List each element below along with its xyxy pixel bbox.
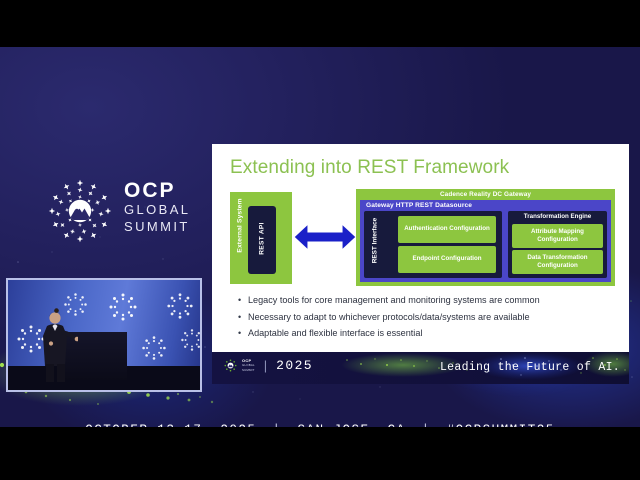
backdrop-starburst-icon bbox=[180, 328, 202, 352]
rest-api-block: REST API bbox=[248, 206, 276, 274]
list-item: • Necessary to adapt to whichever protoc… bbox=[238, 311, 618, 324]
letterbox-bar-bottom bbox=[0, 427, 640, 480]
backdrop-starburst-icon bbox=[166, 292, 194, 320]
data-transformation-configuration-box: Data Transformation Configuration bbox=[512, 250, 603, 274]
list-item: • Adaptable and flexible interface is es… bbox=[238, 327, 618, 340]
backdrop-starburst-icon bbox=[141, 335, 167, 361]
video-player-frame: OCP GLOBAL SUMMIT bbox=[0, 0, 640, 480]
bullet-text: Necessary to adapt to whichever protocol… bbox=[248, 311, 530, 324]
slide-footer-tagline: Leading the Future of AI. bbox=[440, 361, 620, 374]
rest-interface-label: REST Interface bbox=[372, 213, 379, 269]
rest-api-label: REST API bbox=[259, 209, 266, 269]
authentication-configuration-box: Authentication Configuration bbox=[398, 216, 496, 243]
bullet-dot-icon: • bbox=[238, 294, 248, 307]
ocp-logo-line-1: OCP bbox=[124, 181, 190, 201]
bullet-dot-icon: • bbox=[238, 311, 248, 324]
backdrop-starburst-icon bbox=[108, 292, 138, 322]
footer-year: 2025 bbox=[276, 358, 313, 373]
gateway-label: Cadence Reality DC Gateway bbox=[356, 191, 615, 198]
ocp-global-summit-logo: OCP GLOBAL SUMMIT bbox=[44, 175, 194, 249]
endpoint-configuration-box: Endpoint Configuration bbox=[398, 246, 496, 273]
rest-interface-block: REST Interface Authentication Configurat… bbox=[364, 211, 502, 278]
gateway-http-rest-datasource-block: Gateway HTTP REST Datasource REST Interf… bbox=[360, 200, 611, 282]
ocp-logo-wordmark: OCP GLOBAL SUMMIT bbox=[124, 181, 190, 235]
attribute-mapping-configuration-box: Attribute Mapping Configuration bbox=[512, 224, 603, 248]
transformation-engine-block: Transformation Engine Attribute Mapping … bbox=[508, 211, 607, 278]
presentation-slide: Extending into REST Framework External S… bbox=[212, 144, 629, 384]
presentation-stage-background: OCP GLOBAL SUMMIT bbox=[0, 47, 640, 427]
slide-footer-logo-group: OCP GLOBAL SUMMIT | 2025 bbox=[224, 358, 313, 373]
transformation-engine-label: Transformation Engine bbox=[508, 213, 607, 220]
bidirectional-arrow-icon bbox=[294, 222, 356, 252]
letterbox-bar-top bbox=[0, 0, 640, 47]
presenter-figure bbox=[36, 308, 78, 382]
bullet-dot-icon: • bbox=[238, 327, 248, 340]
ocp-logo-line-2: GLOBAL bbox=[124, 201, 190, 218]
bullet-text: Adaptable and flexible interface is esse… bbox=[248, 327, 422, 340]
speaker-on-stage-video-thumbnail[interactable] bbox=[6, 278, 202, 392]
slide-bullet-list: • Legacy tools for core management and m… bbox=[238, 294, 618, 344]
footer-separator: | bbox=[264, 358, 267, 373]
slide-footer-logo-wordmark: OCP GLOBAL SUMMIT bbox=[242, 359, 255, 372]
bullet-text: Legacy tools for core management and mon… bbox=[248, 294, 540, 307]
slide-footer-bar: OCP GLOBAL SUMMIT | 2025 Leading the Fut… bbox=[212, 352, 629, 384]
list-item: • Legacy tools for core management and m… bbox=[238, 294, 618, 307]
external-system-label: External System bbox=[237, 194, 244, 258]
datasource-label: Gateway HTTP REST Datasource bbox=[366, 202, 472, 209]
footer-logo-line-3: SUMMIT bbox=[242, 368, 255, 372]
ocp-mini-starburst-icon bbox=[224, 359, 237, 372]
event-info-bar: OCTOBER 13-17, 2025 | SAN JOSE, CA | #OC… bbox=[0, 407, 640, 427]
cadence-reality-dc-gateway-block: Cadence Reality DC Gateway Gateway HTTP … bbox=[356, 189, 615, 286]
slide-title: Extending into REST Framework bbox=[230, 157, 509, 179]
ocp-logo-line-3: SUMMIT bbox=[124, 218, 190, 235]
ocp-starburst-mountain-icon bbox=[44, 175, 116, 247]
rest-framework-architecture-diagram: External System REST API Cadence Reality… bbox=[230, 189, 615, 284]
external-system-block: External System REST API bbox=[230, 192, 292, 284]
